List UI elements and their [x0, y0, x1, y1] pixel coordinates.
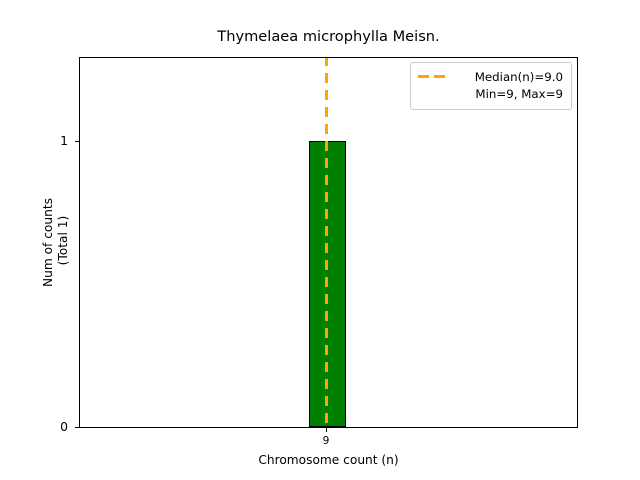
legend: Median(n)=9.0 Min=9, Max=9: [410, 62, 572, 110]
chart-figure: Thymelaea microphylla Meisn. 0 1 9 Chrom…: [0, 0, 640, 480]
page-title: Thymelaea microphylla Meisn.: [79, 28, 578, 45]
y-axis-label: Num of counts (Total 1): [41, 57, 71, 428]
x-axis-label: Chromosome count (n): [79, 453, 578, 467]
legend-entry-minmax: Min=9, Max=9: [454, 86, 563, 103]
legend-row: Median(n)=9.0 Min=9, Max=9: [418, 69, 563, 103]
x-tick-label-9: 9: [306, 435, 346, 447]
plot-area: [79, 57, 578, 428]
y-axis-label-wrap: Num of counts (Total 1): [41, 57, 81, 428]
legend-entry-median: Median(n)=9.0: [454, 69, 563, 86]
median-line: [325, 57, 328, 428]
dashed-line-icon: [418, 71, 447, 83]
legend-labels: Median(n)=9.0 Min=9, Max=9: [454, 69, 563, 103]
x-tick-mark-9: [326, 428, 327, 432]
